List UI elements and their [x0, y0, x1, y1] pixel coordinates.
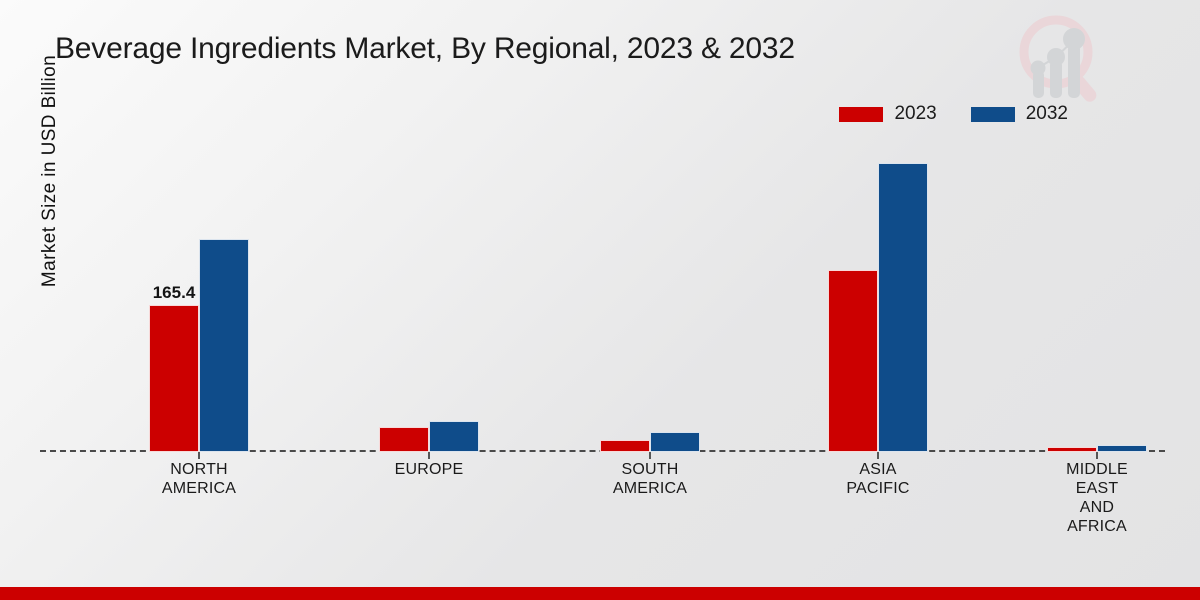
x-axis-category-label: NORTHAMERICA — [162, 460, 236, 498]
category-label-line: EAST — [1066, 479, 1128, 498]
x-axis-tick — [198, 452, 200, 459]
x-axis-category-label: ASIAPACIFIC — [846, 460, 909, 498]
bar-group: SOUTHAMERICA — [595, 150, 705, 452]
category-label-line: MIDDLE — [1066, 460, 1128, 479]
legend-swatch-2032 — [971, 107, 1015, 122]
x-axis-category-label: EUROPE — [395, 460, 464, 479]
x-axis-tick — [428, 452, 430, 459]
x-axis-tick — [1096, 452, 1098, 459]
bar-pair — [823, 150, 933, 452]
x-axis-tick — [649, 452, 651, 459]
x-axis-category-label: SOUTHAMERICA — [613, 460, 687, 498]
bar-2032-north-america[interactable] — [199, 239, 249, 452]
legend-label-2023: 2023 — [894, 103, 936, 125]
chart-legend: 2023 2032 — [839, 103, 1068, 125]
bar-2023-south-america[interactable] — [600, 440, 650, 452]
category-label-line: AND — [1066, 498, 1128, 517]
legend-item-2023[interactable]: 2023 — [839, 103, 936, 125]
x-axis-tick — [877, 452, 879, 459]
legend-item-2032[interactable]: 2032 — [971, 103, 1068, 125]
chart-title: Beverage Ingredients Market, By Regional… — [55, 32, 795, 66]
bar-2023-europe[interactable] — [379, 427, 429, 452]
category-label-line: AMERICA — [613, 479, 687, 498]
bar-2023-middle-east-and-africa[interactable] — [1047, 447, 1097, 452]
legend-label-2032: 2032 — [1026, 103, 1068, 125]
bar-group: ASIAPACIFIC — [823, 150, 933, 452]
bar-2023-asia-pacific[interactable] — [828, 270, 878, 452]
category-label-line: AFRICA — [1066, 517, 1128, 536]
bar-2032-europe[interactable] — [429, 421, 479, 452]
legend-swatch-2023 — [839, 107, 883, 122]
category-label-line: NORTH — [162, 460, 236, 479]
bar-2032-south-america[interactable] — [650, 432, 700, 452]
category-label-line: PACIFIC — [846, 479, 909, 498]
x-axis-category-label: MIDDLEEASTANDAFRICA — [1066, 460, 1128, 536]
category-label-line: ASIA — [846, 460, 909, 479]
bar-value-label: 165.4 — [153, 283, 196, 303]
watermark-logo — [1008, 8, 1112, 104]
bar-2023-north-america[interactable]: 165.4 — [149, 305, 199, 452]
bar-group: 165.4NORTHAMERICA — [144, 150, 254, 452]
bar-pair — [595, 150, 705, 452]
bar-pair: 165.4 — [144, 150, 254, 452]
category-label-line: SOUTH — [613, 460, 687, 479]
bar-group: MIDDLEEASTANDAFRICA — [1042, 150, 1152, 452]
bar-group: EUROPE — [374, 150, 484, 452]
bar-2032-asia-pacific[interactable] — [878, 163, 928, 452]
footer-accent-bar — [0, 587, 1200, 600]
category-label-line: AMERICA — [162, 479, 236, 498]
category-label-line: EUROPE — [395, 460, 464, 479]
bar-2032-middle-east-and-africa[interactable] — [1097, 445, 1147, 452]
bar-pair — [1042, 150, 1152, 452]
bar-pair — [374, 150, 484, 452]
plot-area: 165.4NORTHAMERICAEUROPESOUTHAMERICAASIAP… — [40, 150, 1165, 452]
